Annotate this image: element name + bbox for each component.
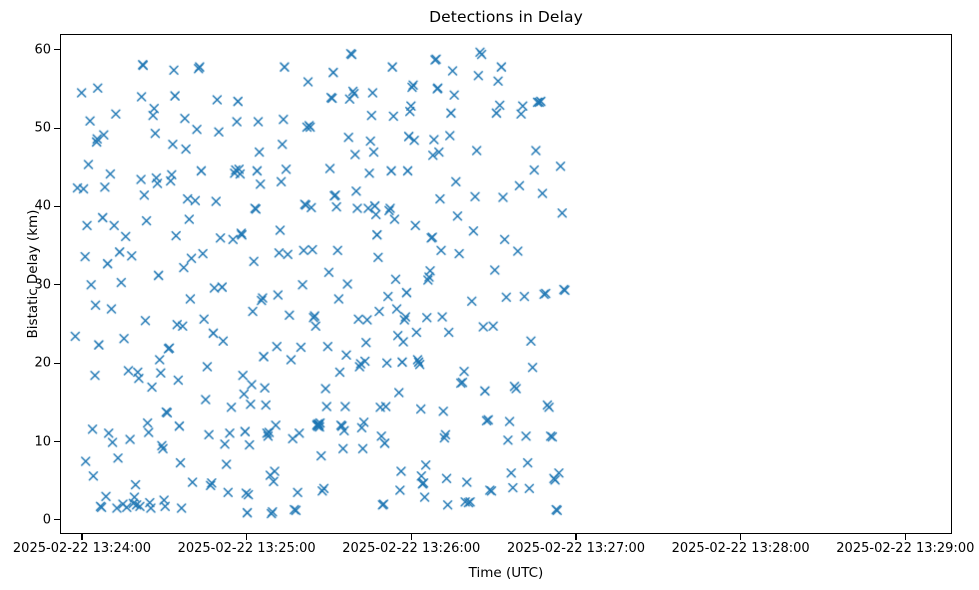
y-tick-mark <box>54 519 60 520</box>
x-tick-label: 2025-02-22 13:27:00 <box>507 541 645 556</box>
x-tick-mark <box>575 534 576 540</box>
y-tick-mark <box>54 284 60 285</box>
x-tick-label: 2025-02-22 13:24:00 <box>13 541 151 556</box>
x-tick-mark <box>411 534 412 540</box>
x-tick-label: 2025-02-22 13:28:00 <box>672 541 810 556</box>
x-tick-mark <box>81 534 82 540</box>
x-tick-mark <box>246 534 247 540</box>
y-axis-label-wrap: Bistatic Delay (km) <box>0 34 22 534</box>
x-axis-label: Time (UTC) <box>60 565 952 581</box>
x-tick-label: 2025-02-22 13:25:00 <box>178 541 316 556</box>
y-axis-label: Bistatic Delay (km) <box>25 149 41 399</box>
y-tick-mark <box>54 363 60 364</box>
y-tick-label: 10 <box>34 434 51 449</box>
y-tick-mark <box>54 206 60 207</box>
y-tick-label: 0 <box>43 512 51 527</box>
y-tick-mark <box>54 128 60 129</box>
y-tick-label: 60 <box>34 42 51 57</box>
scatter-plot-canvas <box>61 35 951 533</box>
x-tick-label: 2025-02-22 13:26:00 <box>342 541 480 556</box>
y-tick-mark <box>54 441 60 442</box>
page-title: Detections in Delay <box>60 8 952 26</box>
y-tick-label: 50 <box>34 121 51 136</box>
x-tick-mark <box>740 534 741 540</box>
y-tick-mark <box>54 49 60 50</box>
plot-axes <box>60 34 952 534</box>
x-tick-mark <box>905 534 906 540</box>
x-tick-label: 2025-02-22 13:29:00 <box>836 541 974 556</box>
figure: Detections in Delay 0102030405060 2025-0… <box>0 0 979 590</box>
